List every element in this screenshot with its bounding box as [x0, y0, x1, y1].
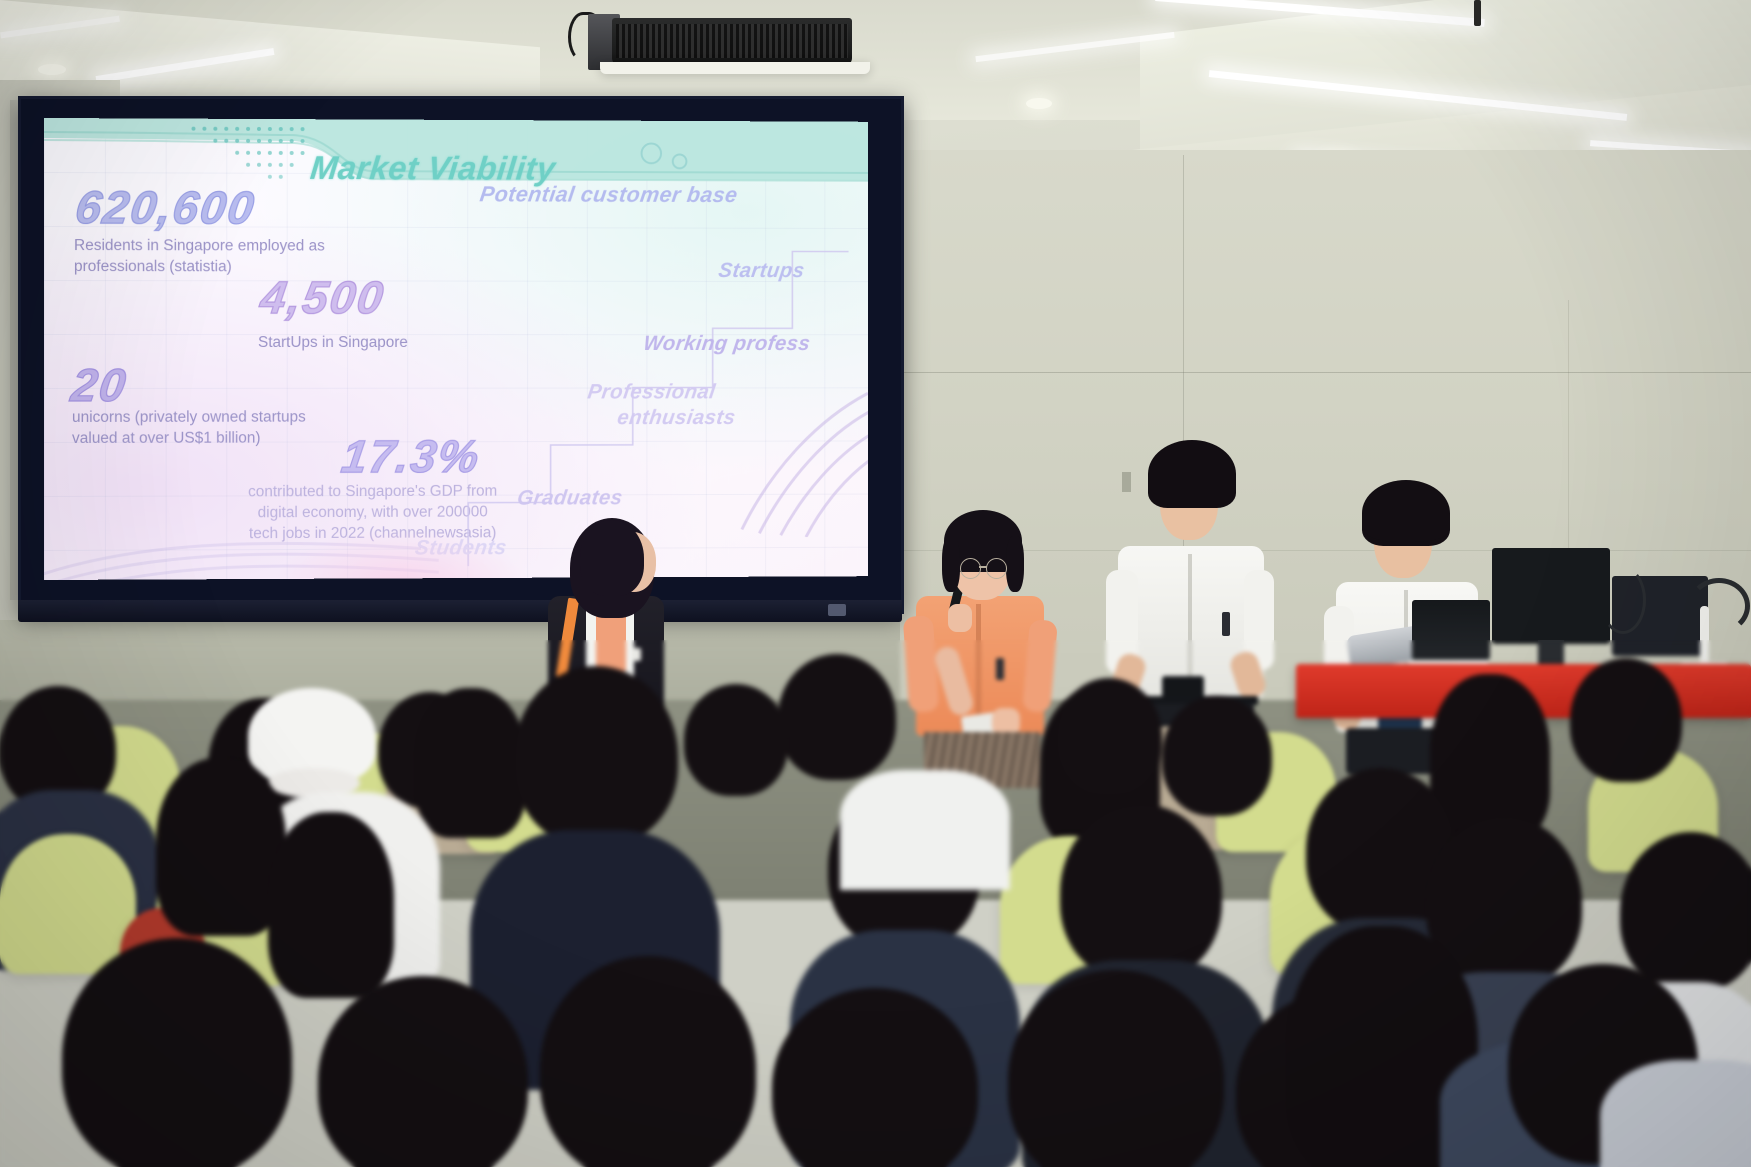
audience-person [62, 938, 292, 1167]
projector-vent-grille [616, 24, 848, 58]
audience-person [1570, 658, 1682, 782]
projection-screen-bottom-bar [18, 600, 902, 622]
monitor-cable [1600, 566, 1646, 634]
screen-control-button[interactable] [828, 604, 846, 616]
projector-base-plate [600, 62, 870, 74]
staircase-label-startups: Startups [717, 259, 806, 283]
presenter-1-hair-front [580, 520, 644, 596]
audience-person [1056, 678, 1162, 796]
audience-person [540, 956, 756, 1167]
staircase-label-graduates: Graduates [516, 486, 625, 510]
audience-person [1162, 696, 1272, 816]
presenter-3-pocket-pen [1222, 612, 1230, 636]
presenter-3-hair-fringe [1152, 480, 1234, 506]
wall-seam-horizontal [880, 372, 1751, 373]
external-monitor [1492, 548, 1610, 644]
desk-lamp-arm [1688, 578, 1750, 634]
projected-slide[interactable]: Market Viability 620,600 Residents in Si… [44, 118, 868, 580]
stat-caption-startups: StartUps in Singapore [258, 333, 408, 354]
stat-number-startups: 4,500 [257, 270, 388, 324]
audience-area [0, 640, 1751, 1167]
audience-person [778, 654, 896, 780]
audience-person [268, 812, 394, 998]
presenter-2-hair-side-right [1006, 536, 1024, 592]
stat-caption-unicorns: unicorns (privately owned startups value… [72, 408, 306, 450]
presenter-2-hair-side-left [942, 536, 960, 592]
glasses-right-lens [986, 558, 1007, 579]
glasses-left-lens [960, 558, 981, 579]
audience-person [1060, 804, 1222, 982]
slide-circle-decor-2 [672, 153, 688, 169]
audience-chair [0, 834, 136, 974]
audience-person [684, 684, 788, 796]
audience-person-body [840, 770, 1010, 890]
glasses-bridge [979, 566, 987, 568]
audience-person [156, 758, 286, 936]
staircase-heading: Potential customer base [478, 181, 739, 207]
ceiling-downlight-3 [38, 64, 66, 75]
stat-number-unicorns: 20 [68, 358, 131, 412]
label-line-professional: Professional [586, 381, 717, 404]
audience-person-body [1600, 1060, 1751, 1167]
staircase-label-working-professionals: Working profess [642, 332, 812, 356]
lecture-hall-photo: Market Viability 620,600 Residents in Si… [0, 0, 1751, 1167]
stat-number-professionals: 620,600 [72, 180, 259, 234]
slide-swirl-decor-right [713, 389, 868, 537]
presenter-2-hand-mic [948, 604, 972, 632]
slide-circle-decor-1 [641, 142, 662, 164]
sprinkler-head-icon [1474, 0, 1481, 26]
audience-person [514, 666, 678, 846]
ceiling-projector [612, 18, 852, 66]
presenter-4-hair-fringe [1366, 518, 1448, 542]
audience-person [1620, 832, 1751, 992]
audience-person [416, 688, 526, 838]
ceiling-downlight-2 [1026, 98, 1052, 109]
